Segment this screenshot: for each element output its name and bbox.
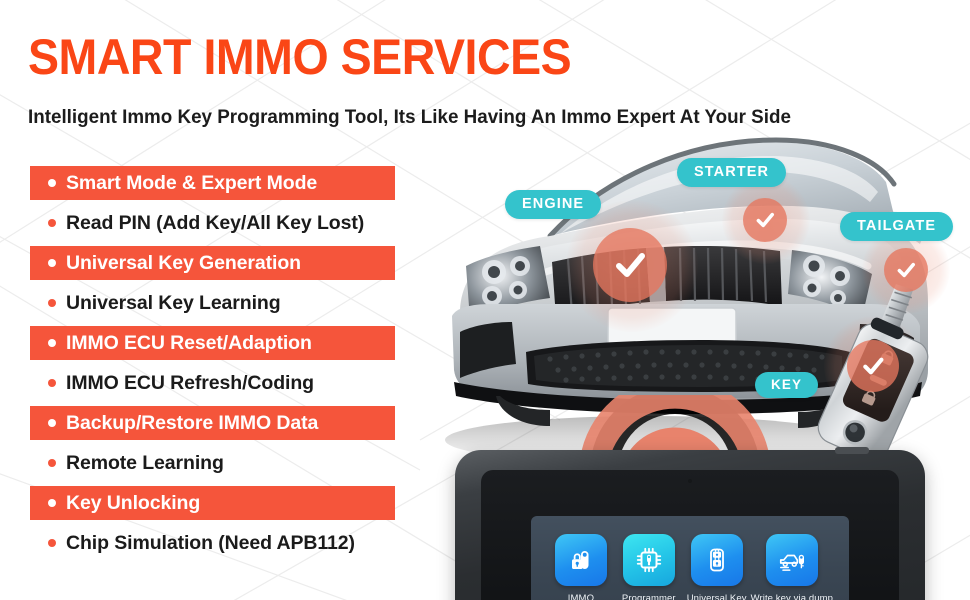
key-check-badge xyxy=(847,340,899,392)
tablet-camera-icon xyxy=(688,479,692,483)
feature-item-chip-simulation: Chip Simulation (Need APB112) xyxy=(30,526,430,560)
feature-label: Universal Key Learning xyxy=(66,292,281,315)
feature-label: IMMO ECU Reset/Adaption xyxy=(66,332,312,355)
app-grid: IMMO xyxy=(531,534,849,600)
product-artwork: ENGINE STARTER TAILGATE KEY xyxy=(400,120,970,600)
app-icon-tile[interactable] xyxy=(766,534,818,586)
feature-label: Smart Mode & Expert Mode xyxy=(66,172,317,195)
bullet-icon xyxy=(48,299,56,307)
app-tile-immo[interactable]: IMMO xyxy=(547,534,615,600)
feature-item-universal-key-learning: Universal Key Learning xyxy=(30,286,430,320)
bullet-icon xyxy=(48,539,56,547)
bullet-icon xyxy=(48,259,56,267)
diagnostic-tablet: IMMO xyxy=(455,450,925,600)
callout-pill-starter: STARTER xyxy=(677,158,786,187)
feature-item-remote-learning: Remote Learning xyxy=(30,446,430,480)
app-label: Write key via dump xyxy=(751,593,833,600)
feature-list: Smart Mode & Expert Mode Read PIN (Add K… xyxy=(30,166,430,566)
tablet-bezel: IMMO xyxy=(481,470,899,600)
app-tile-programmer[interactable]: Programmer xyxy=(615,534,683,600)
app-label: IMMO xyxy=(568,593,594,600)
feature-item-smart-mode-expert-mode: Smart Mode & Expert Mode xyxy=(30,166,395,200)
feature-item-key-unlocking: Key Unlocking xyxy=(30,486,395,520)
tailgate-check-badge xyxy=(884,248,928,292)
page-title: SMART IMMO SERVICES xyxy=(28,30,571,84)
feature-label: Universal Key Generation xyxy=(66,252,301,275)
engine-check-badge xyxy=(593,228,667,302)
feature-label: Read PIN (Add Key/All Key Lost) xyxy=(66,212,364,235)
feature-item-read-pin: Read PIN (Add Key/All Key Lost) xyxy=(30,206,430,240)
app-icon-tile[interactable] xyxy=(691,534,743,586)
feature-label: Chip Simulation (Need APB112) xyxy=(66,532,355,555)
app-label: Universal Key xyxy=(687,593,747,600)
feature-item-backup-restore-immo-data: Backup/Restore IMMO Data xyxy=(30,406,395,440)
bullet-icon xyxy=(48,499,56,507)
feature-label: Remote Learning xyxy=(66,452,224,475)
tablet-power-button[interactable] xyxy=(835,447,869,454)
bullet-icon xyxy=(48,179,56,187)
key-fob-lock-icon xyxy=(702,545,732,575)
chip-icon xyxy=(634,545,664,575)
bullet-icon xyxy=(48,459,56,467)
app-icon-tile[interactable] xyxy=(623,534,675,586)
callout-pill-tailgate: TAILGATE xyxy=(840,212,953,241)
tablet-body: IMMO xyxy=(455,450,925,600)
bullet-icon xyxy=(48,219,56,227)
feature-label: IMMO ECU Refresh/Coding xyxy=(66,372,314,395)
starter-check-badge xyxy=(743,198,787,242)
app-tile-write-key-via-dump[interactable]: Write key via dump xyxy=(751,534,833,600)
app-tile-universal-key[interactable]: Universal Key xyxy=(683,534,751,600)
lock-and-key-icon xyxy=(566,545,596,575)
feature-label: Key Unlocking xyxy=(66,492,200,515)
bullet-icon xyxy=(48,419,56,427)
feature-item-universal-key-generation: Universal Key Generation xyxy=(30,246,395,280)
feature-label: Backup/Restore IMMO Data xyxy=(66,412,318,435)
bullet-icon xyxy=(48,379,56,387)
app-icon-tile[interactable] xyxy=(555,534,607,586)
feature-item-immo-ecu-refresh-coding: IMMO ECU Refresh/Coding xyxy=(30,366,430,400)
tablet-screen: IMMO xyxy=(531,516,849,600)
promo-banner: SMART IMMO SERVICES Intelligent Immo Key… xyxy=(0,0,970,600)
bullet-icon xyxy=(48,339,56,347)
feature-item-immo-ecu-reset-adaption: IMMO ECU Reset/Adaption xyxy=(30,326,395,360)
callout-pill-engine: ENGINE xyxy=(505,190,601,219)
car-and-key-icon xyxy=(777,545,807,575)
app-label: Programmer xyxy=(622,593,676,600)
